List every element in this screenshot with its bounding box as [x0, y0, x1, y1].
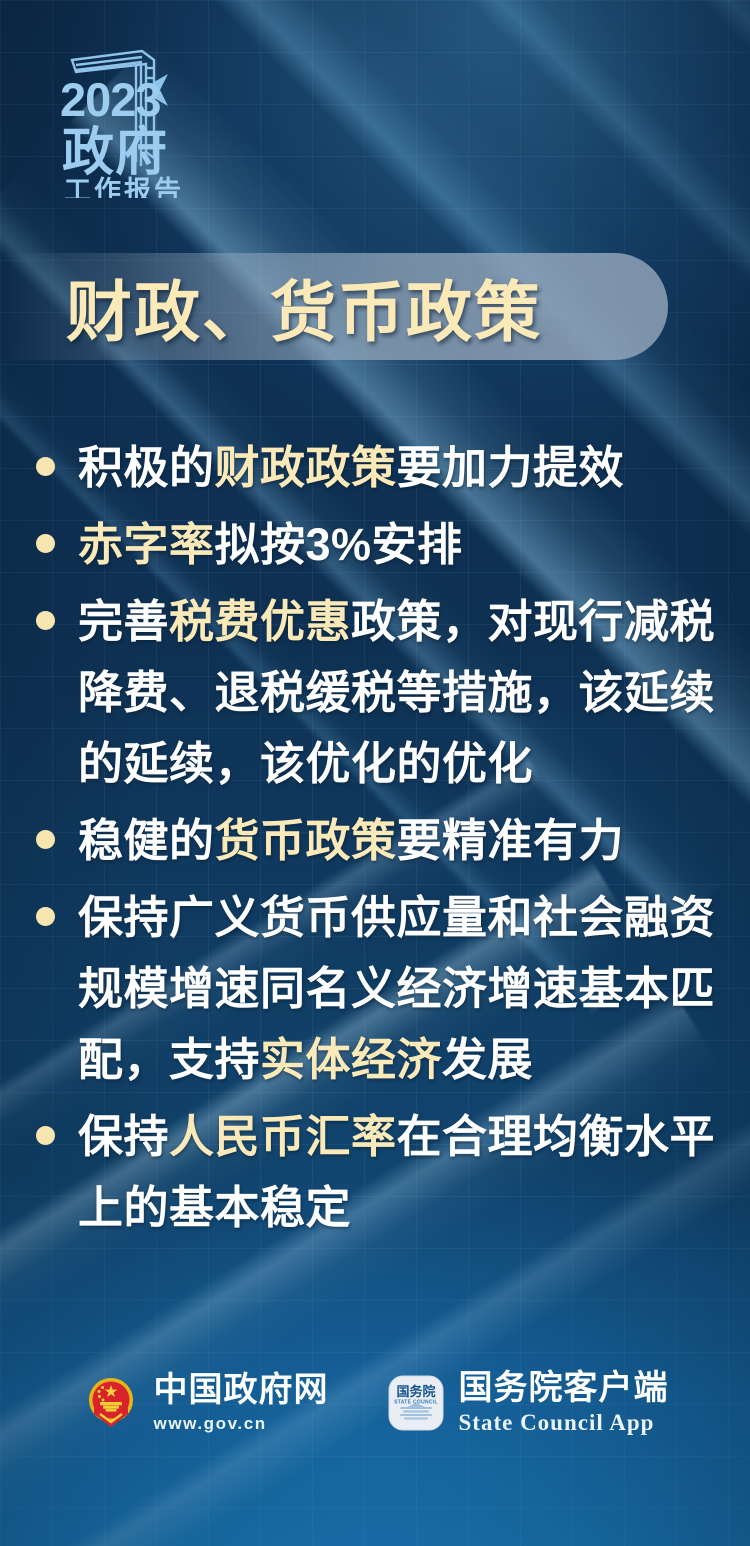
- svg-text:国务院: 国务院: [396, 1384, 435, 1399]
- bullet-plain-text: 拟按3%安排: [215, 519, 463, 570]
- bullet-keyword: 赤字率: [78, 519, 215, 570]
- bullet-keyword: 财政政策: [215, 442, 397, 493]
- bullet-dot-icon: [36, 907, 55, 926]
- report-logo-line2: 工作报告: [64, 176, 184, 198]
- brand-state-council-name-en: State Council App: [459, 1411, 669, 1434]
- bullet-text: 完善税费优惠政策，对现行减税降费、退税缓税等措施，该延续的延续，该优化的优化: [78, 586, 726, 799]
- report-logo-year: 2023: [60, 73, 161, 126]
- policy-bullet-list: 积极的财政政策要加力提效赤字率拟按3%安排完善税费优惠政策，对现行减税降费、退税…: [36, 432, 726, 1249]
- bullet-text: 赤字率拟按3%安排: [78, 509, 726, 580]
- state-council-app-icon: 国务院 STATE COUNCIL: [387, 1374, 445, 1432]
- brand-gov-cn-url: www.gov.cn: [154, 1415, 329, 1432]
- bullet-plain-text: 发展: [442, 1034, 533, 1085]
- bullet-plain-text: 稳健的: [78, 815, 215, 866]
- brand-state-council-texts: 国务院客户端 State Council App: [459, 1371, 669, 1434]
- bullet-tax-fee-preferential: 完善税费优惠政策，对现行减税降费、退税缓税等措施，该延续的延续，该优化的优化: [36, 586, 726, 799]
- brand-gov-cn-name: 中国政府网: [154, 1373, 329, 1407]
- bullet-fiscal-policy: 积极的财政政策要加力提效: [36, 432, 726, 503]
- open-book-icon: 2023 政府 工作报告: [42, 38, 192, 198]
- bullet-keyword: 实体经济: [260, 1034, 442, 1085]
- bullet-dot-icon: [36, 611, 55, 630]
- bullet-text: 积极的财政政策要加力提效: [78, 432, 726, 503]
- report-logo-line1: 政府: [62, 124, 168, 182]
- bullet-money-supply: 保持广义货币供应量和社会融资规模增速同名义经济增速基本匹配，支持实体经济发展: [36, 882, 726, 1095]
- footer-brand-bar: 中国政府网 www.gov.cn 国务院 STATE COUNCIL: [0, 1371, 750, 1434]
- bullet-monetary-policy: 稳健的货币政策要精准有力: [36, 805, 726, 876]
- national-emblem-icon: [82, 1374, 140, 1432]
- bullet-dot-icon: [36, 457, 55, 476]
- brand-gov-cn[interactable]: 中国政府网 www.gov.cn: [82, 1373, 329, 1432]
- bullet-dot-icon: [36, 534, 55, 553]
- bullet-plain-text: 保持: [78, 1111, 169, 1162]
- brand-state-council-app[interactable]: 国务院 STATE COUNCIL 国务院客户端 State Council A…: [387, 1371, 669, 1434]
- page-title: 财政、货币政策: [66, 253, 542, 360]
- bullet-keyword: 税费优惠: [169, 596, 351, 647]
- bullet-keyword: 货币政策: [215, 815, 397, 866]
- bullet-deficit-ratio: 赤字率拟按3%安排: [36, 509, 726, 580]
- bullet-text: 保持人民币汇率在合理均衡水平上的基本稳定: [78, 1101, 726, 1243]
- brand-state-council-name: 国务院客户端: [459, 1371, 669, 1405]
- bullet-dot-icon: [36, 830, 55, 849]
- poster-root: 2023 政府 工作报告 财政、货币政策 积极的财政政策要加力提效赤字率拟按3%…: [0, 0, 750, 1546]
- bullet-rmb-exchange-rate: 保持人民币汇率在合理均衡水平上的基本稳定: [36, 1101, 726, 1243]
- bullet-plain-text: 完善: [78, 596, 169, 647]
- bullet-text: 稳健的货币政策要精准有力: [78, 805, 726, 876]
- bullet-plain-text: 要加力提效: [397, 442, 625, 493]
- bullet-dot-icon: [36, 1126, 55, 1145]
- bullet-text: 保持广义货币供应量和社会融资规模增速同名义经济增速基本匹配，支持实体经济发展: [78, 882, 726, 1095]
- bullet-plain-text: 要精准有力: [397, 815, 625, 866]
- bullet-keyword: 人民币汇率: [169, 1111, 397, 1162]
- brand-gov-cn-texts: 中国政府网 www.gov.cn: [154, 1373, 329, 1432]
- bullet-plain-text: 积极的: [78, 442, 215, 493]
- report-logo: 2023 政府 工作报告: [42, 38, 192, 198]
